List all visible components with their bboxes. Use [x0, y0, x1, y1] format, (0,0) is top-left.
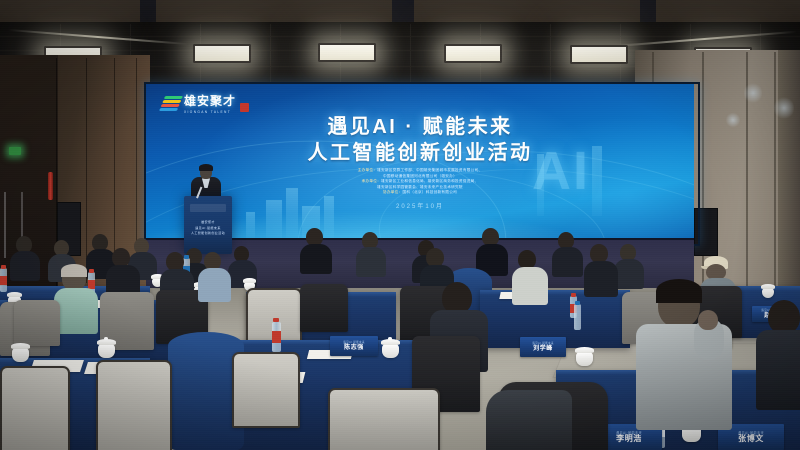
credit-label: 承办单位： [362, 179, 381, 183]
name-card-name: 刘学峰 [533, 345, 553, 353]
person-torso [614, 259, 644, 289]
name-card-name: 李明浩 [616, 435, 642, 443]
teacup-lid [7, 292, 22, 297]
person-torso [584, 261, 618, 297]
wall-panel-seam [86, 58, 87, 283]
wall-fire-extinguisher [48, 172, 53, 200]
teacup-lid [575, 347, 594, 353]
ceiling-light-5 [570, 45, 628, 64]
chair [14, 300, 60, 346]
person-torso [10, 251, 40, 281]
chair [0, 366, 70, 450]
credit-text: 中国移动通信集团河北有限公司（雄安办） [383, 174, 457, 178]
screen-city-skyline [246, 212, 255, 240]
teacup [382, 344, 399, 358]
credit-text: 国科（北京）科技创新有限公司 [402, 190, 457, 194]
chair [328, 388, 440, 450]
credit-text: 雄安新区科学园管委会、雄安未来产业技术研究院 [377, 185, 463, 189]
table-name-card: 遇见AI·赋能未来 陈志强 [330, 336, 378, 356]
ceiling-light-2 [193, 44, 251, 63]
bottle-cap [575, 301, 580, 305]
name-card-name: 张博文 [738, 435, 764, 443]
conference-hall-photo: AI 雄安聚才 XIONGAN TALENT 遇见AI · 赋能未来 人工智能创… [0, 0, 800, 450]
ceiling-light-4 [444, 44, 502, 63]
wall-light-reflection [774, 96, 794, 120]
bottle-cap [571, 293, 576, 297]
event-title-line-2: 人工智能创新创业活动 [146, 136, 694, 165]
person-hair [61, 264, 87, 277]
teacup-lid [761, 284, 775, 289]
chair [300, 284, 348, 332]
logo-chinese-text: 雄安聚才 [184, 92, 236, 109]
person-torso [552, 247, 583, 277]
teacup-lid [243, 278, 256, 283]
speaker-hair [199, 164, 213, 171]
teacup-knob [104, 337, 108, 340]
event-title-line-1: 遇见AI · 赋能未来 [146, 110, 694, 139]
table-name-card: 遇见AI·赋能未来 刘学峰 [520, 337, 566, 357]
bottle-cap [1, 265, 6, 269]
teacup-lid [11, 343, 30, 349]
podium-text-line-3: 人工智能创新创业活动 [184, 231, 232, 235]
teacup-knob [388, 337, 392, 340]
podium-logo-plate [190, 204, 226, 212]
event-credits-block: 主办单位：雄安新区党群工作部、中国雄安集团城市发展投资有限公司、 中国移动通信集… [146, 168, 694, 196]
person-torso [512, 267, 548, 305]
podium-text-line-2: 遇见AI·赋能未来 [184, 226, 232, 230]
wall-panel-seam [114, 58, 115, 278]
person-head [768, 300, 800, 334]
teacup [98, 344, 115, 358]
person-torso [756, 330, 800, 410]
water-bottle [574, 304, 581, 330]
name-card-name: 陈志强 [344, 344, 364, 352]
credit-label: 主办单位： [358, 168, 377, 172]
wall-panel-seam [774, 52, 776, 314]
bottle-label [0, 276, 7, 285]
exit-sign-icon [9, 147, 21, 155]
person-torso [300, 244, 332, 274]
chair [232, 352, 300, 428]
coat-body [486, 390, 572, 450]
person-torso [198, 268, 231, 302]
bottle-cap [89, 269, 94, 273]
credit-label: 协办单位： [383, 190, 402, 194]
credit-text: 雄安新区党群工作部、中国雄安集团城市发展投资有限公司、 [377, 168, 482, 172]
wall-light-reflection [744, 82, 762, 104]
podium-text-line-1: 雄安聚才 [184, 220, 232, 224]
teacup [12, 348, 29, 362]
person-torso [54, 288, 98, 334]
right-speaker-box [694, 208, 718, 256]
bottle-label [272, 331, 281, 343]
ceiling-light-3 [318, 43, 376, 62]
wall-light-reflection [726, 112, 740, 128]
wall-trim-strip [4, 192, 6, 258]
chair [96, 360, 172, 450]
bottle-cap [273, 318, 279, 322]
speaker-podium: 雄安聚才 遇见AI·赋能未来 人工智能创新创业活动 [184, 196, 232, 254]
teacup [576, 352, 593, 366]
person-hand [698, 310, 718, 330]
person-torso [356, 247, 386, 277]
person-hair [656, 279, 702, 303]
credit-text: 雄安新区工业和信息化局、雄安新区商务和投资促进局、 [381, 179, 478, 183]
logo-swoosh-icon [159, 96, 183, 111]
bottle-cap [184, 255, 189, 259]
